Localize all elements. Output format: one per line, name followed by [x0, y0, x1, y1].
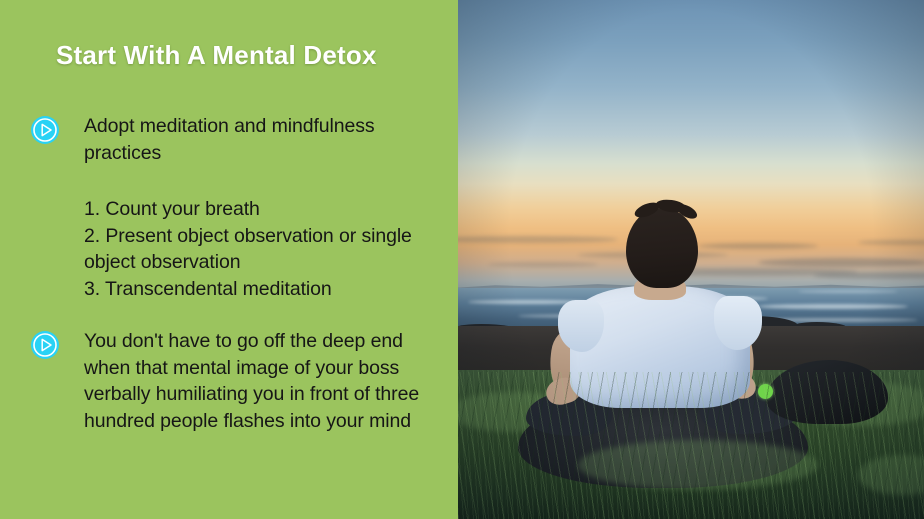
numbered-list: 1. Count your breath 2. Present object o…	[84, 196, 454, 302]
list-item: 2. Present object observation or single …	[84, 223, 454, 276]
meditation-photo	[458, 0, 924, 519]
grass-tuft	[578, 440, 818, 490]
bullet-item: You don't have to go off the deep end wh…	[30, 328, 448, 434]
list-item: 3. Transcendental meditation	[84, 276, 454, 303]
bullet-row: Adopt meditation and mindfulness practic…	[30, 113, 448, 166]
play-circle-icon	[30, 330, 60, 360]
content-panel: Start With A Mental Detox Adopt meditati…	[0, 0, 458, 519]
slide: Start With A Mental Detox Adopt meditati…	[0, 0, 924, 519]
green-object	[758, 384, 773, 399]
bullet-row: You don't have to go off the deep end wh…	[30, 328, 448, 434]
head	[626, 208, 698, 288]
page-title: Start With A Mental Detox	[56, 40, 446, 71]
right-sleeve	[714, 296, 762, 350]
play-circle-icon	[30, 115, 60, 145]
bullet-item: Adopt meditation and mindfulness practic…	[30, 113, 448, 166]
bullet-text: You don't have to go off the deep end wh…	[84, 328, 448, 434]
list-item: 1. Count your breath	[84, 196, 454, 223]
bullet-text: Adopt meditation and mindfulness practic…	[84, 113, 448, 166]
